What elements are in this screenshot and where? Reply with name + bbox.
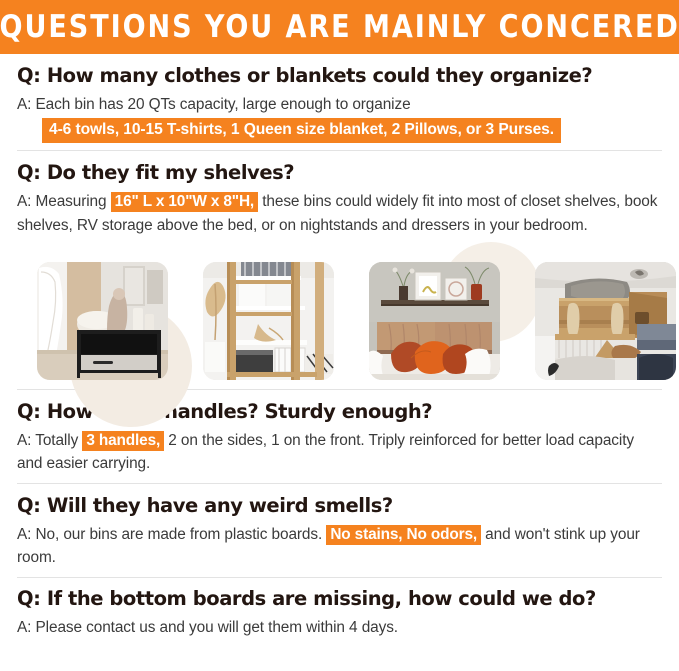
faq-content: Q: How many clothes or blankets could th… bbox=[0, 54, 679, 646]
faq-answer-4-highlight: No stains, No odors, bbox=[326, 525, 481, 545]
bedroom-photo-art bbox=[369, 262, 500, 380]
faq-question-2: Q: Do they fit my shelves? bbox=[17, 161, 662, 186]
faq-answer-2: A: Measuring 16" L x 10"W x 8"H, these b… bbox=[17, 190, 662, 237]
shelving-photo bbox=[203, 262, 334, 380]
faq-item-4: Q: Will they have any weird smells? A: N… bbox=[17, 484, 662, 577]
faq-item-1: Q: How many clothes or blankets could th… bbox=[17, 54, 662, 150]
faq-answer-5: A: Please contact us and you will get th… bbox=[17, 616, 662, 639]
faq-item-2: Q: Do they fit my shelves? A: Measuring … bbox=[17, 151, 662, 244]
faq-answer-2-highlight: 16" L x 10"W x 8"H, bbox=[111, 192, 258, 212]
rv-storage-photo bbox=[535, 262, 676, 380]
faq-answer-3-highlight: 3 handles, bbox=[82, 431, 164, 451]
faq-question-5: Q: If the bottom boards are missing, how… bbox=[17, 587, 662, 612]
bedroom-photo bbox=[369, 262, 500, 380]
page-title: QUESTIONS YOU ARE MAINLY CONCERED bbox=[0, 12, 679, 43]
nightstand-photo-art bbox=[37, 262, 168, 380]
photo-gallery bbox=[17, 250, 662, 385]
faq-answer-4-before: A: No, our bins are made from plastic bo… bbox=[17, 526, 326, 543]
faq-item-5: Q: If the bottom boards are missing, how… bbox=[17, 578, 662, 646]
faq-answer-3-before: A: Totally bbox=[17, 432, 82, 449]
faq-answer-4: A: No, our bins are made from plastic bo… bbox=[17, 523, 662, 570]
header-banner: QUESTIONS YOU ARE MAINLY CONCERED bbox=[0, 0, 679, 54]
faq-answer-1-highlight: 4-6 towls, 10-15 T-shirts, 1 Queen size … bbox=[42, 118, 561, 143]
faq-answer-2-before: A: Measuring bbox=[17, 193, 111, 210]
faq-question-1: Q: How many clothes or blankets could th… bbox=[17, 64, 662, 89]
rv-storage-photo-art bbox=[535, 262, 676, 380]
faq-answer-1: A: Each bin has 20 QTs capacity, large e… bbox=[17, 93, 662, 116]
nightstand-photo bbox=[37, 262, 168, 380]
shelving-photo-art bbox=[203, 262, 334, 380]
faq-question-4: Q: Will they have any weird smells? bbox=[17, 494, 662, 519]
faq-answer-1-text: A: Each bin has 20 QTs capacity, large e… bbox=[17, 96, 411, 113]
faq-page: QUESTIONS YOU ARE MAINLY CONCERED Q: How… bbox=[0, 0, 679, 671]
faq-answer-3: A: Totally 3 handles, 2 on the sides, 1 … bbox=[17, 429, 662, 476]
